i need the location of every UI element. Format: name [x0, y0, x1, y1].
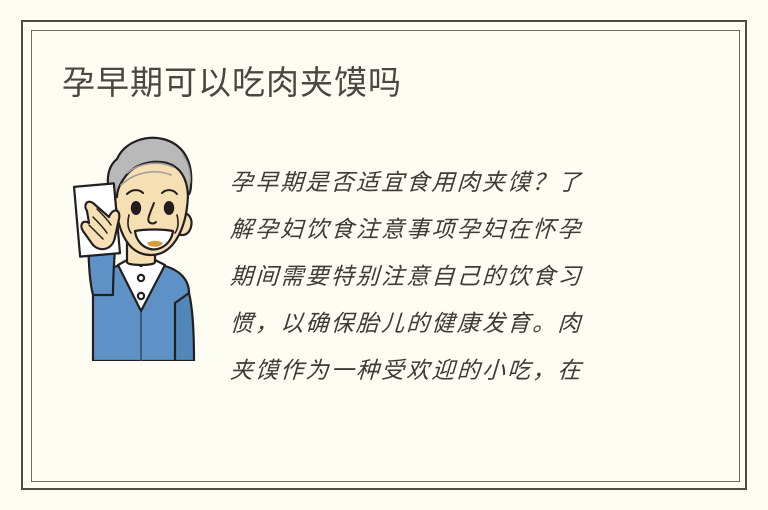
article-body: 孕早期是否适宜食用肉夹馍？了 解孕妇饮食注意事项孕妇在怀孕 期间需要特别注意自己… — [230, 160, 655, 395]
elderly-man-holding-card-icon — [55, 133, 205, 361]
body-line: 期间需要特别注意自己的饮食习 — [229, 254, 656, 301]
body-line: 解孕妇饮食注意事项孕妇在怀孕 — [229, 207, 656, 254]
body-line: 孕早期是否适宜食用肉夹馍？了 — [229, 160, 656, 207]
page-title: 孕早期可以吃肉夹馍吗 — [62, 62, 402, 104]
body-line: 夹馍作为一种受欢迎的小吃，在 — [229, 348, 656, 395]
article-card-page: 孕早期可以吃肉夹馍吗 — [0, 0, 768, 510]
article-content: 孕早期是否适宜食用肉夹馍？了 解孕妇饮食注意事项孕妇在怀孕 期间需要特别注意自己… — [55, 133, 655, 423]
body-line: 惯，以确保胎儿的健康发育。肉 — [229, 301, 656, 348]
